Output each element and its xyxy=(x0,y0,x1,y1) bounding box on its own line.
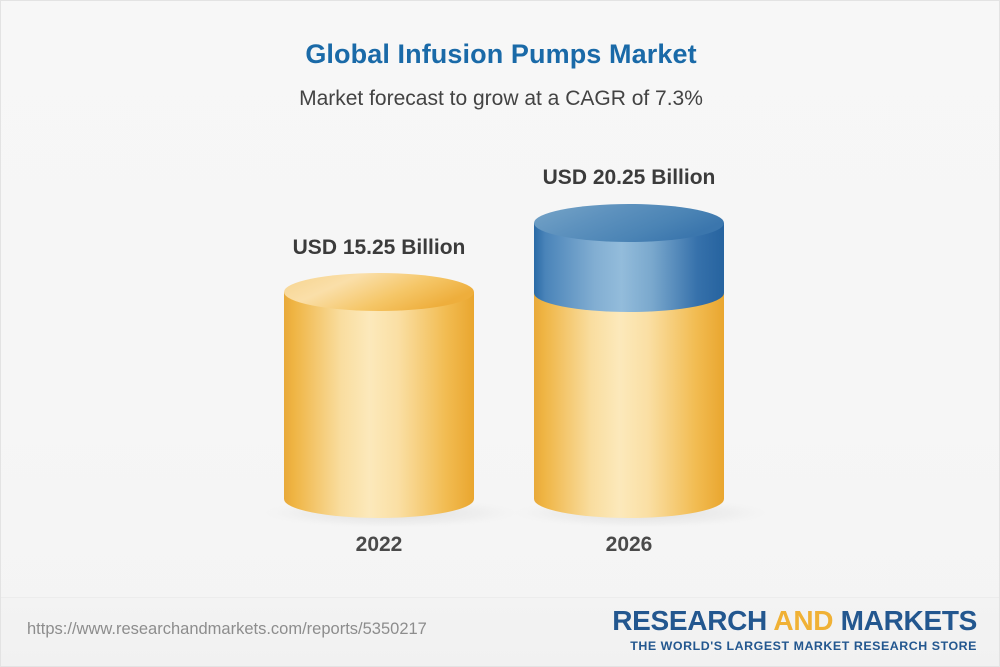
brand-wordmark: RESEARCH AND MARKETS xyxy=(612,606,977,635)
bar-chart-plot-area: USD 15.25 Billion USD 20.25 Billion 2022… xyxy=(1,1,1000,601)
bar-value-label-2026: USD 20.25 Billion xyxy=(534,166,724,190)
brand-logo[interactable]: RESEARCH AND MARKETS THE WORLD'S LARGEST… xyxy=(612,606,977,653)
brand-word-and: AND xyxy=(773,605,833,636)
bar-2026-base-segment xyxy=(534,293,724,518)
category-label-2022: 2022 xyxy=(284,533,474,557)
bar-value-label-2022: USD 15.25 Billion xyxy=(284,236,474,260)
bar-2022-body xyxy=(284,292,474,518)
brand-word-markets: MARKETS xyxy=(833,605,977,636)
category-label-2026: 2026 xyxy=(534,533,724,557)
source-url-link[interactable]: https://www.researchandmarkets.com/repor… xyxy=(27,620,427,639)
bar-2026[interactable] xyxy=(534,204,724,518)
bar-2026-top-cap xyxy=(534,204,724,242)
cylinder-bars-svg xyxy=(1,1,1000,601)
brand-tagline: THE WORLD'S LARGEST MARKET RESEARCH STOR… xyxy=(612,635,977,653)
chart-footer: https://www.researchandmarkets.com/repor… xyxy=(1,597,999,666)
brand-word-research: RESEARCH xyxy=(612,605,773,636)
chart-canvas: Global Infusion Pumps Market Market fore… xyxy=(0,0,1000,667)
bar-2022[interactable] xyxy=(284,273,474,518)
bar-2022-top-cap xyxy=(284,273,474,311)
